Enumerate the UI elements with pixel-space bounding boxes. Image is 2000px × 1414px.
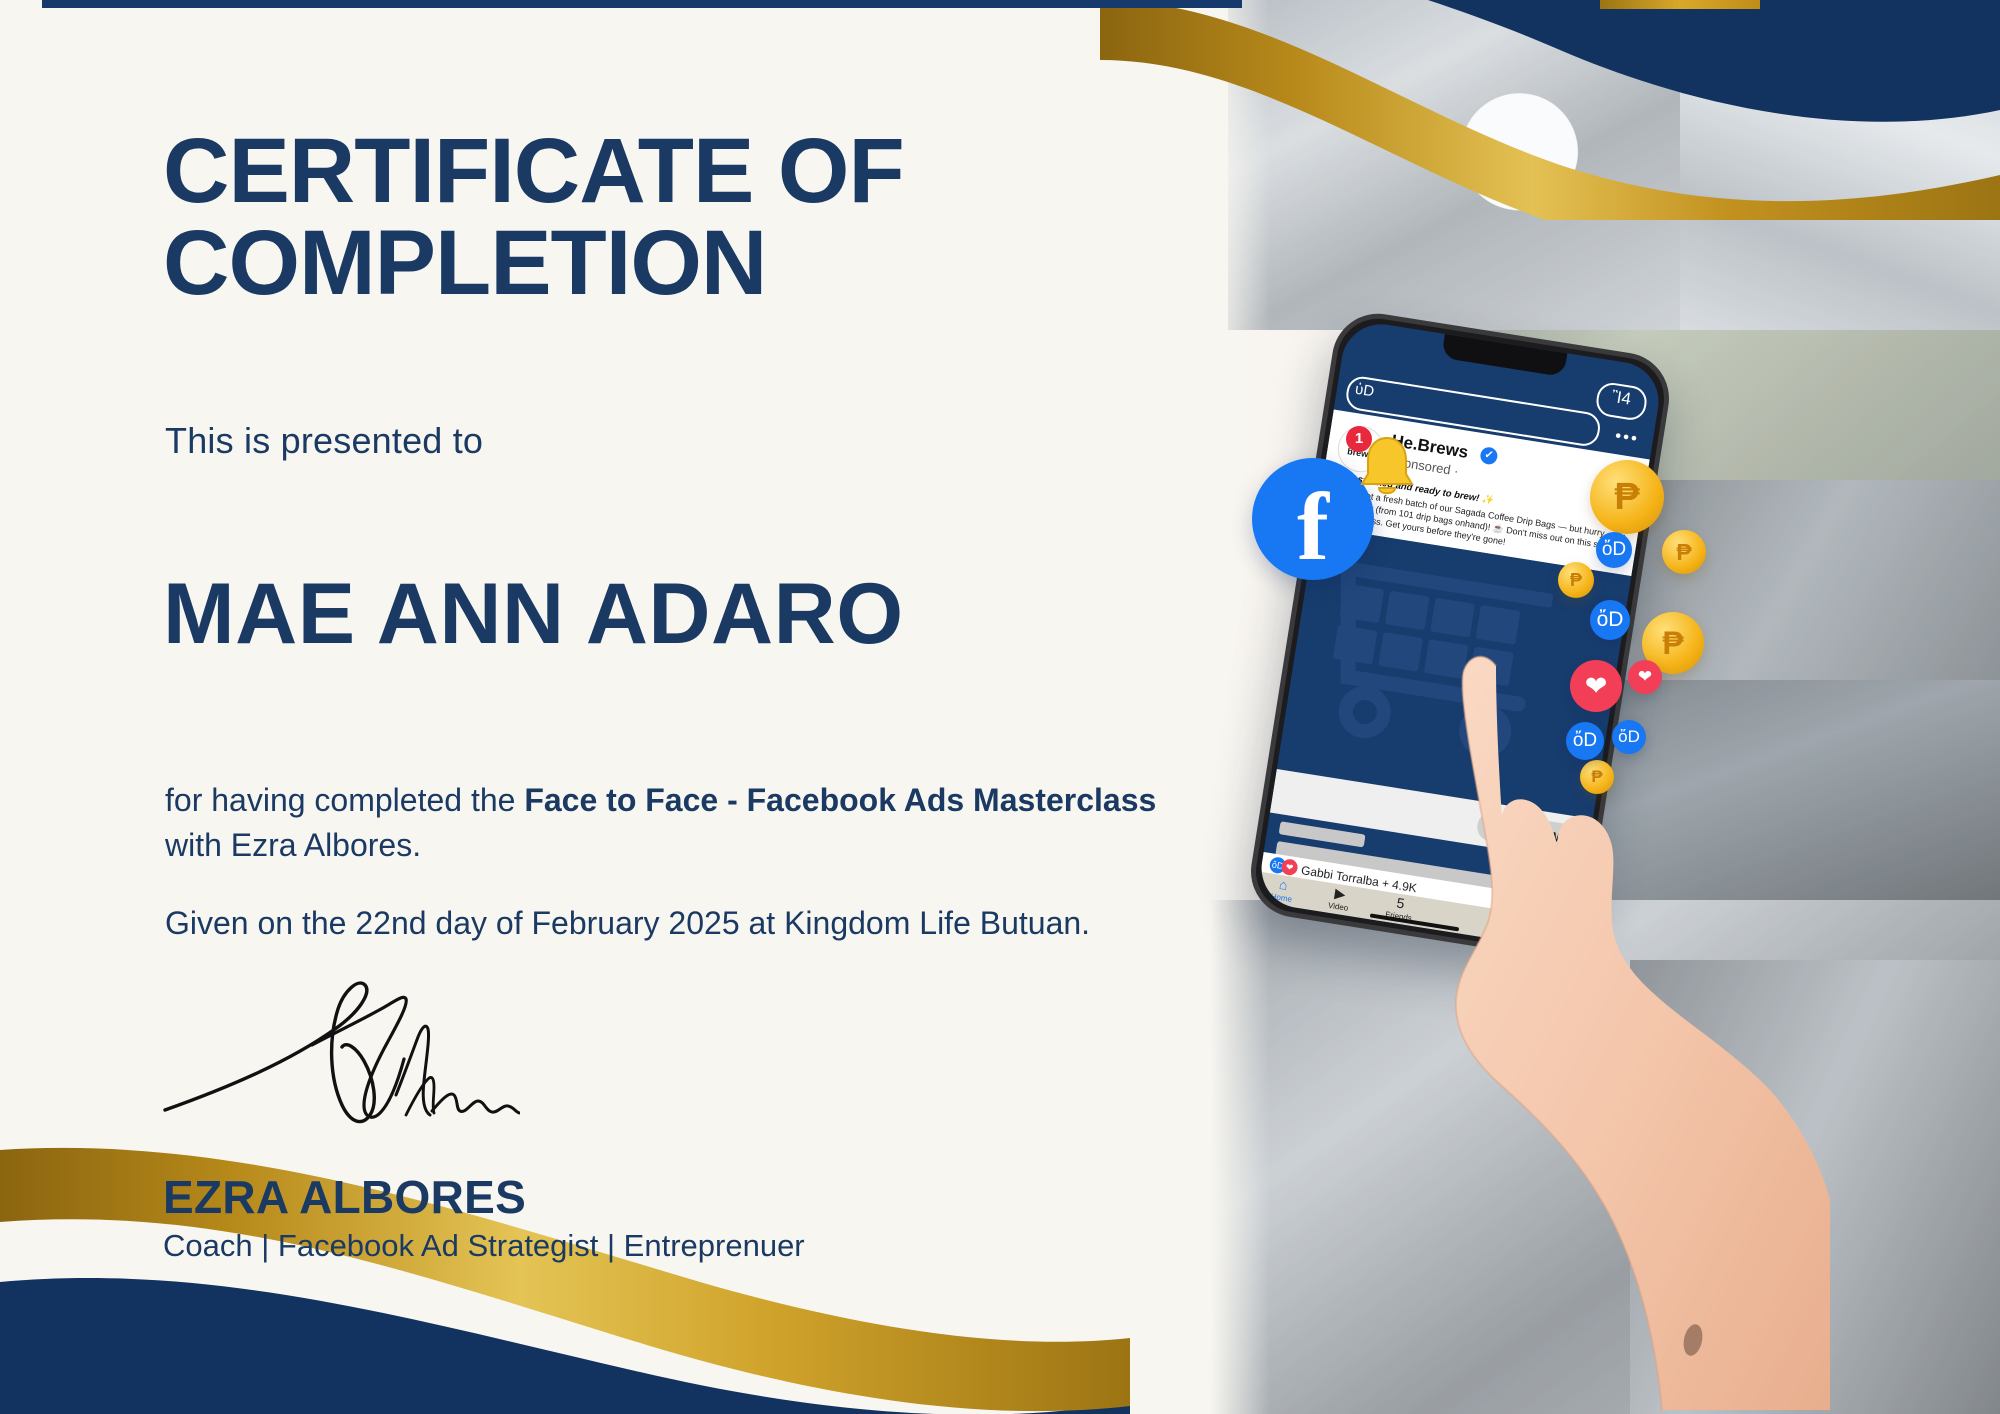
peso-coin-icon-3: ₱ <box>1558 562 1594 598</box>
certificate-text-column: CERTIFICATE OF COMPLETION This is presen… <box>0 0 1200 1414</box>
date-and-venue-line: Given on the 22nd day of February 2025 a… <box>165 905 1265 942</box>
home-icon: ⌂ <box>1272 876 1295 893</box>
video-icon: ▶ <box>1329 885 1351 902</box>
certificate-title: CERTIFICATE OF COMPLETION <box>163 125 1143 309</box>
pointing-hand-illustration <box>1400 640 1830 1410</box>
like-bubble-icon-1: ὄD <box>1596 532 1632 568</box>
verified-badge-icon: ✓ <box>1479 446 1498 465</box>
signature-mark <box>160 975 520 1135</box>
completion-statement: for having completed the Face to Face - … <box>165 778 1195 869</box>
course-name: Face to Face - Facebook Ads Masterclass <box>524 782 1156 818</box>
certificate-canvas: CERTIFICATE OF COMPLETION This is presen… <box>0 0 2000 1414</box>
nav-item-video[interactable]: ▶ Video <box>1327 885 1351 913</box>
top-gold-strip <box>1600 0 1760 9</box>
signatory-name: EZRA ALBORES <box>163 1170 526 1224</box>
search-icon[interactable]: ὐD <box>1354 381 1375 401</box>
peso-coin-icon-2: ₱ <box>1662 530 1706 574</box>
notification-count-badge: 1 <box>1346 426 1372 452</box>
more-options-icon[interactable]: ••• <box>1614 426 1641 449</box>
like-bubble-icon-2: ὄD <box>1590 600 1630 640</box>
facebook-f-letter: f <box>1297 484 1329 570</box>
recipient-name: MAE ANN ADARO <box>163 565 1183 664</box>
completion-prefix: for having completed the <box>165 782 524 818</box>
nav-item-home[interactable]: ⌂ Home <box>1270 876 1295 904</box>
peso-coin-icon-1: ₱ <box>1590 460 1664 534</box>
presented-to-label: This is presented to <box>165 420 483 462</box>
signatory-role: Coach | Facebook Ad Strategist | Entrepr… <box>163 1228 805 1264</box>
top-navy-strip <box>42 0 1242 8</box>
completion-suffix: with Ezra Albores. <box>165 827 421 863</box>
microphone-icon[interactable]: Ἲ4 <box>1611 388 1633 408</box>
